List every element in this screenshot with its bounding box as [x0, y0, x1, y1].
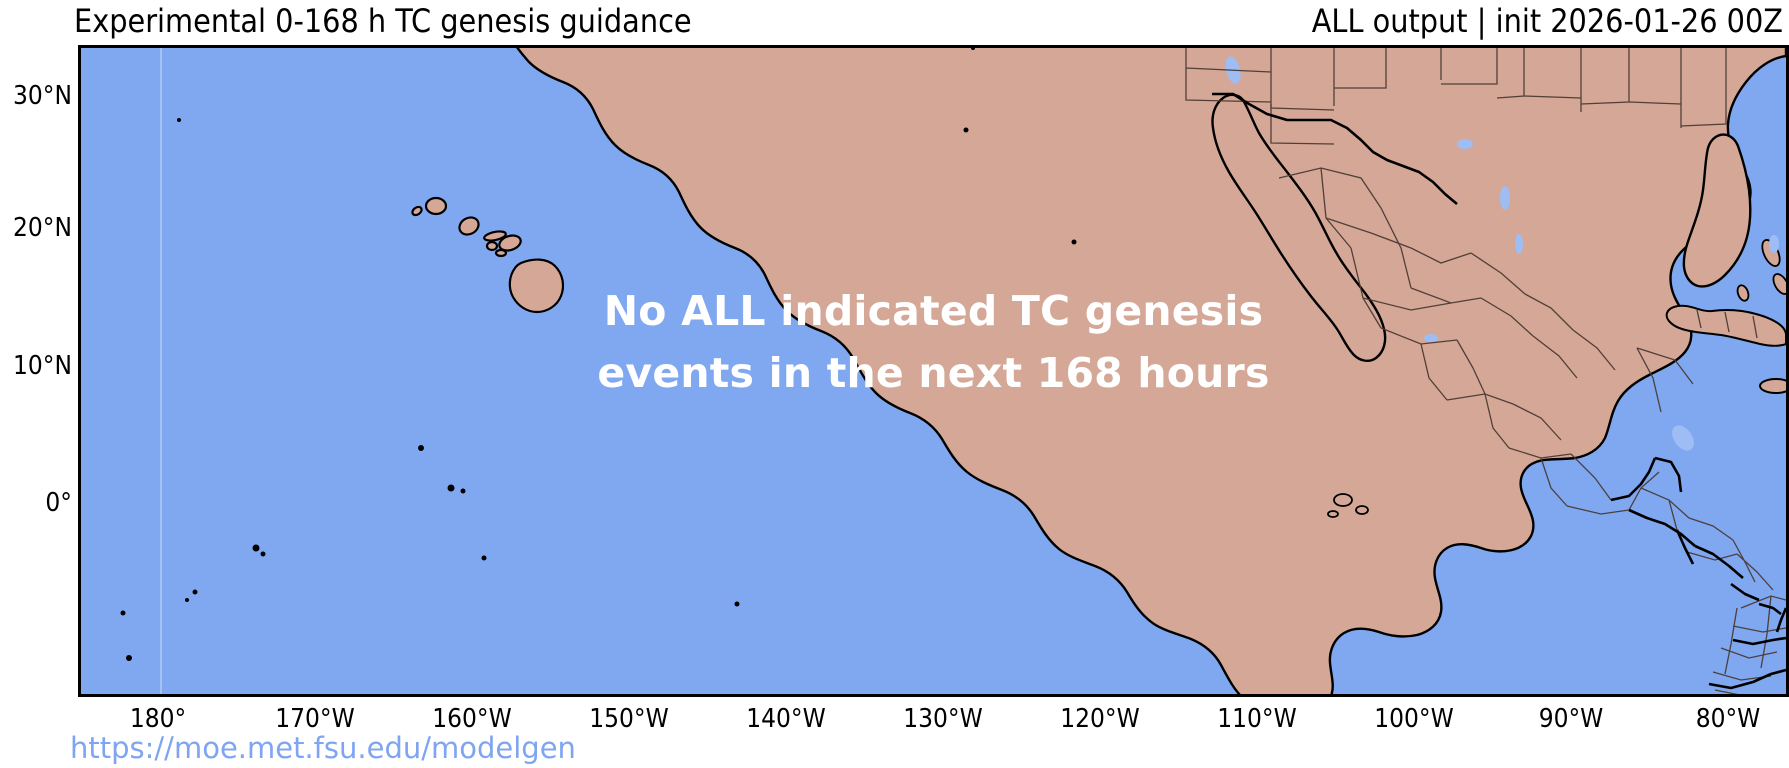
x-tick-label: 90°W: [1539, 704, 1604, 734]
kauai: [426, 198, 446, 214]
x-tick-label: 140°W: [746, 704, 825, 734]
y-tick-label: 0°: [45, 488, 72, 518]
y-tick-label: 30°N: [13, 81, 72, 111]
y-tick-label: 10°N: [13, 351, 72, 381]
y-tick-label: 20°N: [13, 213, 72, 243]
model-run-label: ALL output | init 2026-01-26 00Z: [1312, 0, 1783, 42]
x-tick-label: 130°W: [903, 704, 982, 734]
lanai: [487, 242, 497, 250]
page-title: Experimental 0-168 h TC genesis guidance: [74, 0, 692, 42]
tc-genesis-figure: Experimental 0-168 h TC genesis guidance…: [0, 0, 1789, 768]
x-tick-label: 120°W: [1060, 704, 1139, 734]
kahoolawe: [496, 250, 506, 256]
big-island: [510, 260, 563, 312]
basemap-svg: [81, 48, 1786, 694]
timestamp-label: Mon Jan 26 04:41 UTC 2026: [177, 692, 595, 697]
jamaica: [1760, 379, 1786, 393]
source-url-link[interactable]: https://moe.met.fsu.edu/modelgen: [70, 731, 576, 765]
x-tick-label: 160°W: [432, 704, 511, 734]
x-tick-label: 180°: [130, 704, 186, 734]
x-tick-label: 80°W: [1696, 704, 1761, 734]
x-tick-label: 150°W: [589, 704, 668, 734]
x-tick-label: 170°W: [275, 704, 354, 734]
map-plot-area: No ALL indicated TC genesis events in th…: [78, 45, 1789, 697]
x-tick-label: 110°W: [1217, 704, 1296, 734]
x-tick-label: 100°W: [1374, 704, 1453, 734]
